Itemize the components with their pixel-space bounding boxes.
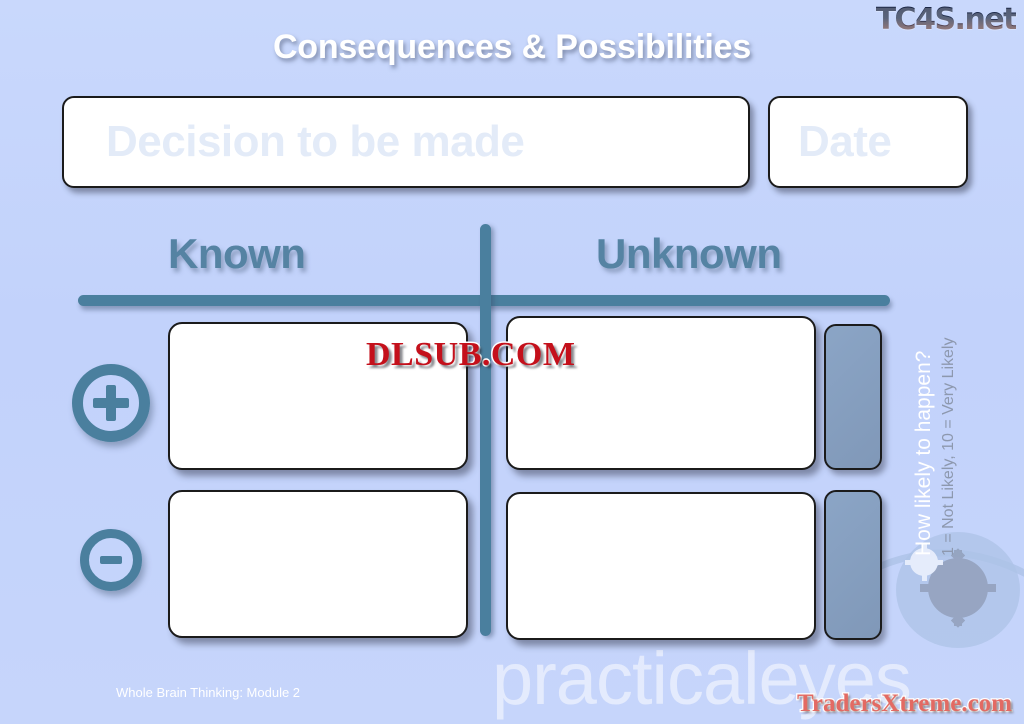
cell-unknown-positive[interactable]: [506, 316, 816, 470]
vertical-divider: [480, 224, 491, 636]
rating-input-positive[interactable]: [824, 324, 882, 470]
plus-vertical-stroke: [106, 385, 116, 421]
page-title: Consequences & Possibilities: [0, 28, 1024, 67]
minus-circle-icon: [80, 529, 142, 591]
cell-known-positive[interactable]: [168, 322, 468, 470]
cell-unknown-negative[interactable]: [506, 492, 816, 640]
decision-input[interactable]: Decision to be made: [62, 96, 750, 188]
cell-known-negative[interactable]: [168, 490, 468, 638]
minus-horizontal-stroke: [100, 556, 122, 564]
worksheet-canvas: practicaleyes Consequences &: [0, 0, 1024, 724]
rating-input-negative[interactable]: [824, 490, 882, 640]
practicaleyes-watermark: practicaleyes: [492, 636, 911, 721]
decision-placeholder: Decision to be made: [106, 117, 524, 167]
plus-circle-icon: [72, 364, 150, 442]
column-header-known: Known: [168, 230, 305, 278]
rating-legend-scale: 1 = Not Likely, 10 = Very Likely: [940, 338, 958, 556]
date-input[interactable]: Date: [768, 96, 968, 188]
footer-note: Whole Brain Thinking: Module 2: [116, 685, 300, 700]
tradersxtreme-watermark: TradersXtreme.com: [797, 690, 1012, 718]
rating-legend-question: How likely to happen?: [912, 351, 936, 556]
tc4s-site-logo: TC4S.net: [876, 2, 1016, 37]
column-header-unknown: Unknown: [596, 230, 781, 278]
date-placeholder: Date: [798, 117, 891, 167]
